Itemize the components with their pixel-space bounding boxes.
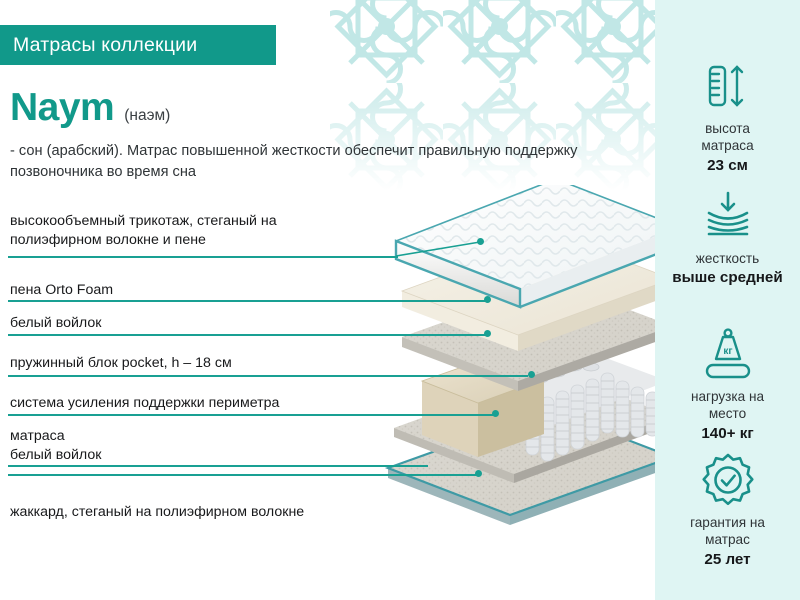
layer-label-3: пружинный блок pocket, h – 18 см <box>0 354 400 373</box>
spec-item-load: кг нагрузка на место 140+ кг <box>655 326 800 442</box>
layer-label-1: пена Orto Foam <box>0 281 360 300</box>
spec-label-warranty: гарантия на матрас <box>655 514 800 549</box>
weight-load-icon: кг <box>655 326 800 382</box>
layer-label-6: жаккард, стеганый на полиэфирном волокне <box>0 503 470 522</box>
height-ruler-icon <box>655 58 800 114</box>
layer-dot-3 <box>528 371 535 378</box>
layer-label-4: система усиления поддержки периметра <box>0 394 400 413</box>
warranty-badge-icon <box>655 452 800 508</box>
layer-leader-3 <box>8 375 528 377</box>
specifications-panel: высота матраса 23 см жесткость выш <box>655 0 800 600</box>
spec-item-firmness: жесткость выше средней <box>655 188 800 286</box>
product-name: Naym <box>10 88 114 127</box>
spec-value-height: 23 см <box>655 157 800 174</box>
layer-leader-0 <box>8 256 398 258</box>
layer-label-5: матраса белый войлок <box>0 427 360 465</box>
layer-leader-2 <box>8 334 488 336</box>
spec-item-height: высота матраса 23 см <box>655 58 800 174</box>
spec-value-load: 140+ кг <box>655 425 800 442</box>
layer-leader-1 <box>8 300 488 302</box>
layer-leader-6 <box>8 474 478 476</box>
spec-value-firmness: выше средней <box>655 269 800 286</box>
layer-connector-0 <box>396 238 482 260</box>
svg-text:кг: кг <box>723 346 732 357</box>
layer-dot-6 <box>475 470 482 477</box>
firmness-waves-icon <box>655 188 800 244</box>
product-title-row: Naym (наэм) <box>10 88 170 127</box>
layer-label-0: высокообъемный трикотаж, стеганый на пол… <box>0 212 400 250</box>
product-name-transliteration: (наэм) <box>124 108 170 128</box>
spec-value-warranty: 25 лет <box>655 551 800 568</box>
layer-leader-4 <box>8 414 495 416</box>
spec-label-load: нагрузка на место <box>655 388 800 423</box>
promo-banner-canvas: Матрасы коллекции Naym (наэм) - сон (ара… <box>0 0 800 600</box>
spec-label-firmness: жесткость <box>655 250 800 267</box>
layer-dot-2 <box>484 330 491 337</box>
layer-leader-5 <box>8 465 428 467</box>
product-description: - сон (арабский). Матрас повышенной жест… <box>10 141 610 183</box>
layer-dot-1 <box>484 296 491 303</box>
collection-banner: Матрасы коллекции <box>0 25 276 65</box>
layer-label-2: белый войлок <box>0 314 360 333</box>
spec-item-warranty: гарантия на матрас 25 лет <box>655 452 800 568</box>
collection-banner-label: Матрасы коллекции <box>0 34 197 57</box>
layer-dot-4 <box>492 410 499 417</box>
spec-label-height: высота матраса <box>655 120 800 155</box>
